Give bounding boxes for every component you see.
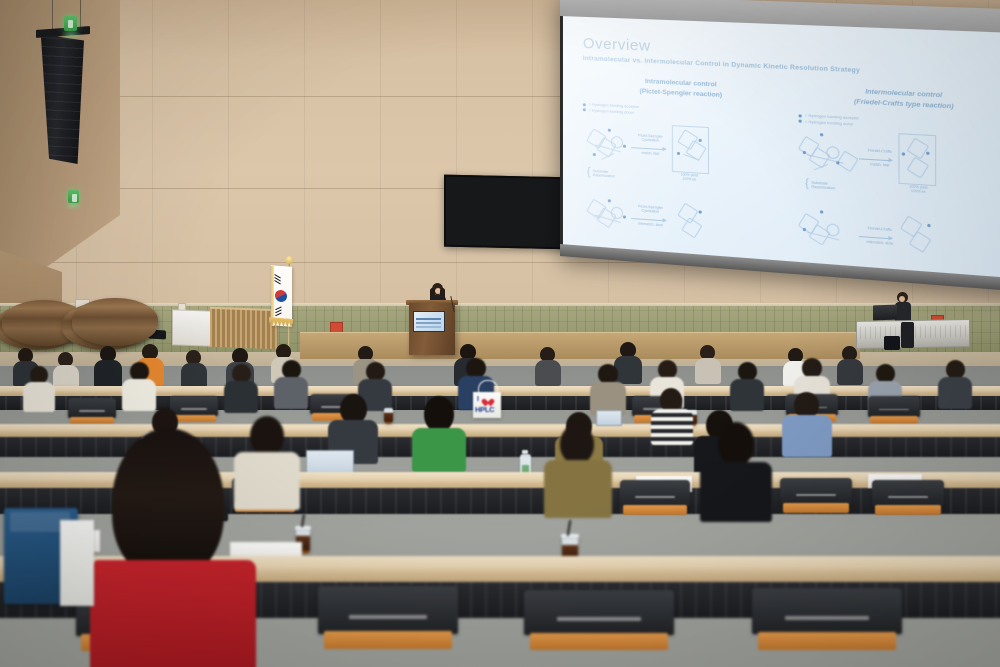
arrow-sublabel: mismatch, slow	[627, 220, 674, 228]
chair	[752, 588, 902, 667]
h-bond-site-dot	[623, 215, 626, 219]
lecture-hall-photo: Overview Intramolecular vs. Intermolecul…	[0, 0, 1000, 667]
h-bond-site-dot	[623, 144, 626, 148]
av-laptop	[873, 305, 897, 321]
exit-sign-glow	[64, 202, 82, 210]
h-bond-site-dot	[820, 210, 824, 214]
av-chair	[901, 322, 914, 348]
yield-label: 100% yield 100% ee	[896, 183, 940, 196]
arrow-label: Friedel-Crafts	[855, 225, 905, 233]
racemization-label: Substrate Racemization	[593, 169, 633, 181]
legend-dot-icon	[799, 120, 802, 123]
confidence-monitor	[413, 311, 445, 332]
h-bond-site-dot	[699, 210, 703, 214]
arrow-label: Pictet-Spengler Cyclization	[627, 132, 674, 144]
screen-surface: Overview Intramolecular vs. Intermolecul…	[563, 16, 1000, 280]
reaction-scheme-top: Friedel-Crafts match, fast 100% yield 10…	[799, 127, 1000, 216]
racemization-brace: {	[587, 166, 591, 177]
panel-intermolecular: Intermolecular control (Friedel-Crafts t…	[799, 84, 1000, 276]
bag-papers	[60, 520, 94, 606]
chair	[620, 480, 690, 526]
exit-sign-glow	[60, 30, 82, 40]
h-bond-site-dot	[608, 128, 611, 132]
arrow-label: Pictet-Spengler Cyclization	[627, 203, 674, 216]
wooden-grille-panel	[210, 307, 278, 349]
projection-screen[interactable]: Overview Intramolecular vs. Intermolecul…	[560, 0, 1000, 293]
stage-whiteboard	[172, 309, 214, 346]
exit-sign-icon	[64, 16, 77, 31]
panel-heading: Intermolecular control (Friedel-Crafts t…	[799, 84, 1000, 114]
legend-dot-icon	[799, 114, 802, 117]
legend-dot-icon	[583, 108, 586, 111]
wall-display-off[interactable]	[444, 175, 572, 250]
slide-panels: Intramolecular control (Pictet-Spengler …	[583, 74, 1000, 276]
legend-dot-icon	[583, 103, 586, 106]
arrow-sublabel: mismatch, slow	[855, 238, 905, 247]
tote-bag: I HPLC	[473, 392, 501, 418]
legend-label: = Hydrogen bonding donor	[805, 119, 854, 126]
racemization-label: Substrate Racemization	[811, 180, 854, 192]
h-bond-site-dot	[608, 199, 611, 203]
h-bond-site-dot	[820, 133, 824, 137]
south-korean-flag	[271, 265, 292, 326]
tote-i-letter: I	[477, 396, 479, 403]
heart-icon	[484, 396, 493, 404]
flag-finial	[286, 256, 293, 264]
tote-brand-label: HPLC	[475, 405, 494, 414]
panel-heading: Intramolecular control (Pictet-Spengler …	[583, 74, 782, 103]
chair	[780, 478, 852, 524]
coffee-cup	[384, 408, 393, 424]
laptop[interactable]	[596, 410, 622, 426]
yield-label: 100% yield 100% ee	[669, 171, 710, 183]
h-bond-site-dot	[927, 223, 931, 227]
cup-lid	[295, 526, 311, 530]
panel-intramolecular: Intramolecular control (Pictet-Spengler …	[583, 74, 782, 259]
stage-front-rail	[300, 332, 860, 359]
racemization-brace: {	[805, 178, 809, 190]
speaker-suspension-wire	[52, 0, 53, 32]
reaction-arrow	[859, 158, 892, 161]
taeguk-circle-icon	[275, 290, 287, 303]
flag-edge-trim	[271, 266, 274, 326]
arrow-sublabel: match, fast	[627, 150, 674, 158]
chair	[872, 480, 944, 526]
bottle-cap	[522, 450, 528, 454]
legend-label: = Hydrogen bonding donor	[589, 108, 634, 114]
h-bond-site-dot	[593, 153, 596, 157]
av-bag	[884, 336, 900, 350]
chair	[318, 586, 458, 667]
reaction-scheme-top: Pictet-Spengler Cyclization match, fast	[583, 116, 782, 201]
chair	[524, 590, 674, 667]
speaker-suspension-wire	[80, 0, 81, 28]
presentation-slide: Overview Intramolecular vs. Intermolecul…	[563, 16, 1000, 280]
cup-lid	[561, 534, 579, 538]
stacked-round-tables	[0, 296, 150, 354]
